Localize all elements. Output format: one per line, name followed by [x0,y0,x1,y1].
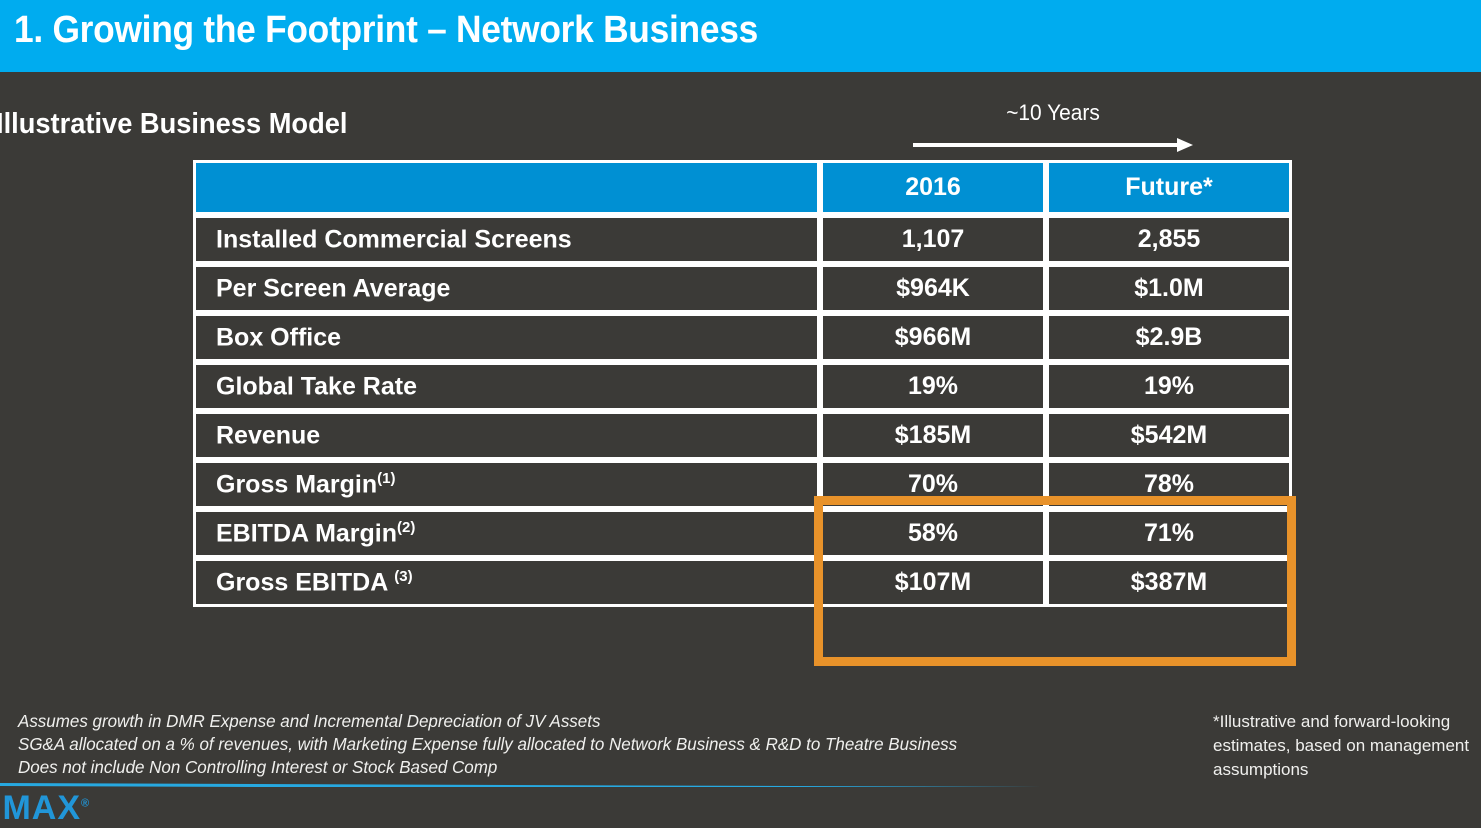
footnote-line-3: Does not include Non Controlling Interes… [18,756,957,779]
row-label-text: Box Office [216,323,341,351]
cell-future: $2.9B [1046,313,1292,362]
table-header-row: 2016 Future* [193,160,1292,215]
timeline-annotation: ~10 Years [913,100,1193,126]
table-row: Per Screen Average $964K $1.0M [193,264,1292,313]
row-label-text: EBITDA Margin [216,519,397,547]
table-row: Gross Margin(1) 70% 78% [193,460,1292,509]
imax-logo: IMAX® [0,789,90,828]
right-arrow-icon [913,138,1193,152]
table-row: Installed Commercial Screens 1,107 2,855 [193,215,1292,264]
section-heading: Illustrative Business Model [0,108,347,141]
table-row: Global Take Rate 19% 19% [193,362,1292,411]
arrow-shaft [913,143,1181,147]
row-label-text: Gross EBITDA [216,568,394,596]
row-label-superscript: (1) [377,470,395,487]
imax-logo-trademark: ® [81,798,90,810]
row-label-text: Per Screen Average [216,274,450,302]
table-row: EBITDA Margin(2) 58% 71% [193,509,1292,558]
row-label-text: Installed Commercial Screens [216,225,572,253]
row-label: Gross Margin(1) [193,460,820,509]
row-label: Installed Commercial Screens [193,215,820,264]
illustrative-business-model-table: 2016 Future* Installed Commercial Screen… [193,160,1292,607]
bottom-divider [0,782,1481,787]
column-header-2016: 2016 [820,160,1046,215]
row-label-superscript: (3) [394,568,412,585]
cell-future: $1.0M [1046,264,1292,313]
slide-title-bar: 1. Growing the Footprint – Network Busin… [0,0,1481,72]
row-label-text: Revenue [216,421,320,449]
cell-future: 71% [1046,509,1292,558]
cell-future: $387M [1046,558,1292,607]
page-title: 1. Growing the Footprint – Network Busin… [14,9,758,52]
row-label-text: Gross Margin [216,470,377,498]
cell-future: 78% [1046,460,1292,509]
cell-future: 19% [1046,362,1292,411]
arrow-head [1177,138,1193,152]
row-label: Revenue [193,411,820,460]
row-label: Per Screen Average [193,264,820,313]
cell-2016: $964K [820,264,1046,313]
timeline-label: ~10 Years [920,100,1186,126]
row-label-text: Global Take Rate [216,372,417,400]
footnote-line-2: SG&A allocated on a % of revenues, with … [18,733,957,756]
divider-line [0,783,1481,787]
row-label-superscript: (2) [397,519,415,536]
footnote-line-1: Assumes growth in DMR Expense and Increm… [18,710,957,733]
table-row: Gross EBITDA (3) $107M $387M [193,558,1292,607]
forward-looking-disclaimer: *Illustrative and forward-looking estima… [1213,710,1481,782]
cell-future: 2,855 [1046,215,1292,264]
cell-2016: 1,107 [820,215,1046,264]
row-label: Gross EBITDA (3) [193,558,820,607]
cell-2016: 58% [820,509,1046,558]
imax-logo-text: IMAX [0,789,81,827]
cell-2016: $107M [820,558,1046,607]
row-label: Box Office [193,313,820,362]
footnotes: Assumes growth in DMR Expense and Increm… [18,710,957,779]
column-header-metric [193,160,820,215]
cell-future: $542M [1046,411,1292,460]
table-row: Box Office $966M $2.9B [193,313,1292,362]
row-label: Global Take Rate [193,362,820,411]
cell-2016: 70% [820,460,1046,509]
column-header-future: Future* [1046,160,1292,215]
row-label: EBITDA Margin(2) [193,509,820,558]
cell-2016: $185M [820,411,1046,460]
table-row: Revenue $185M $542M [193,411,1292,460]
cell-2016: 19% [820,362,1046,411]
cell-2016: $966M [820,313,1046,362]
